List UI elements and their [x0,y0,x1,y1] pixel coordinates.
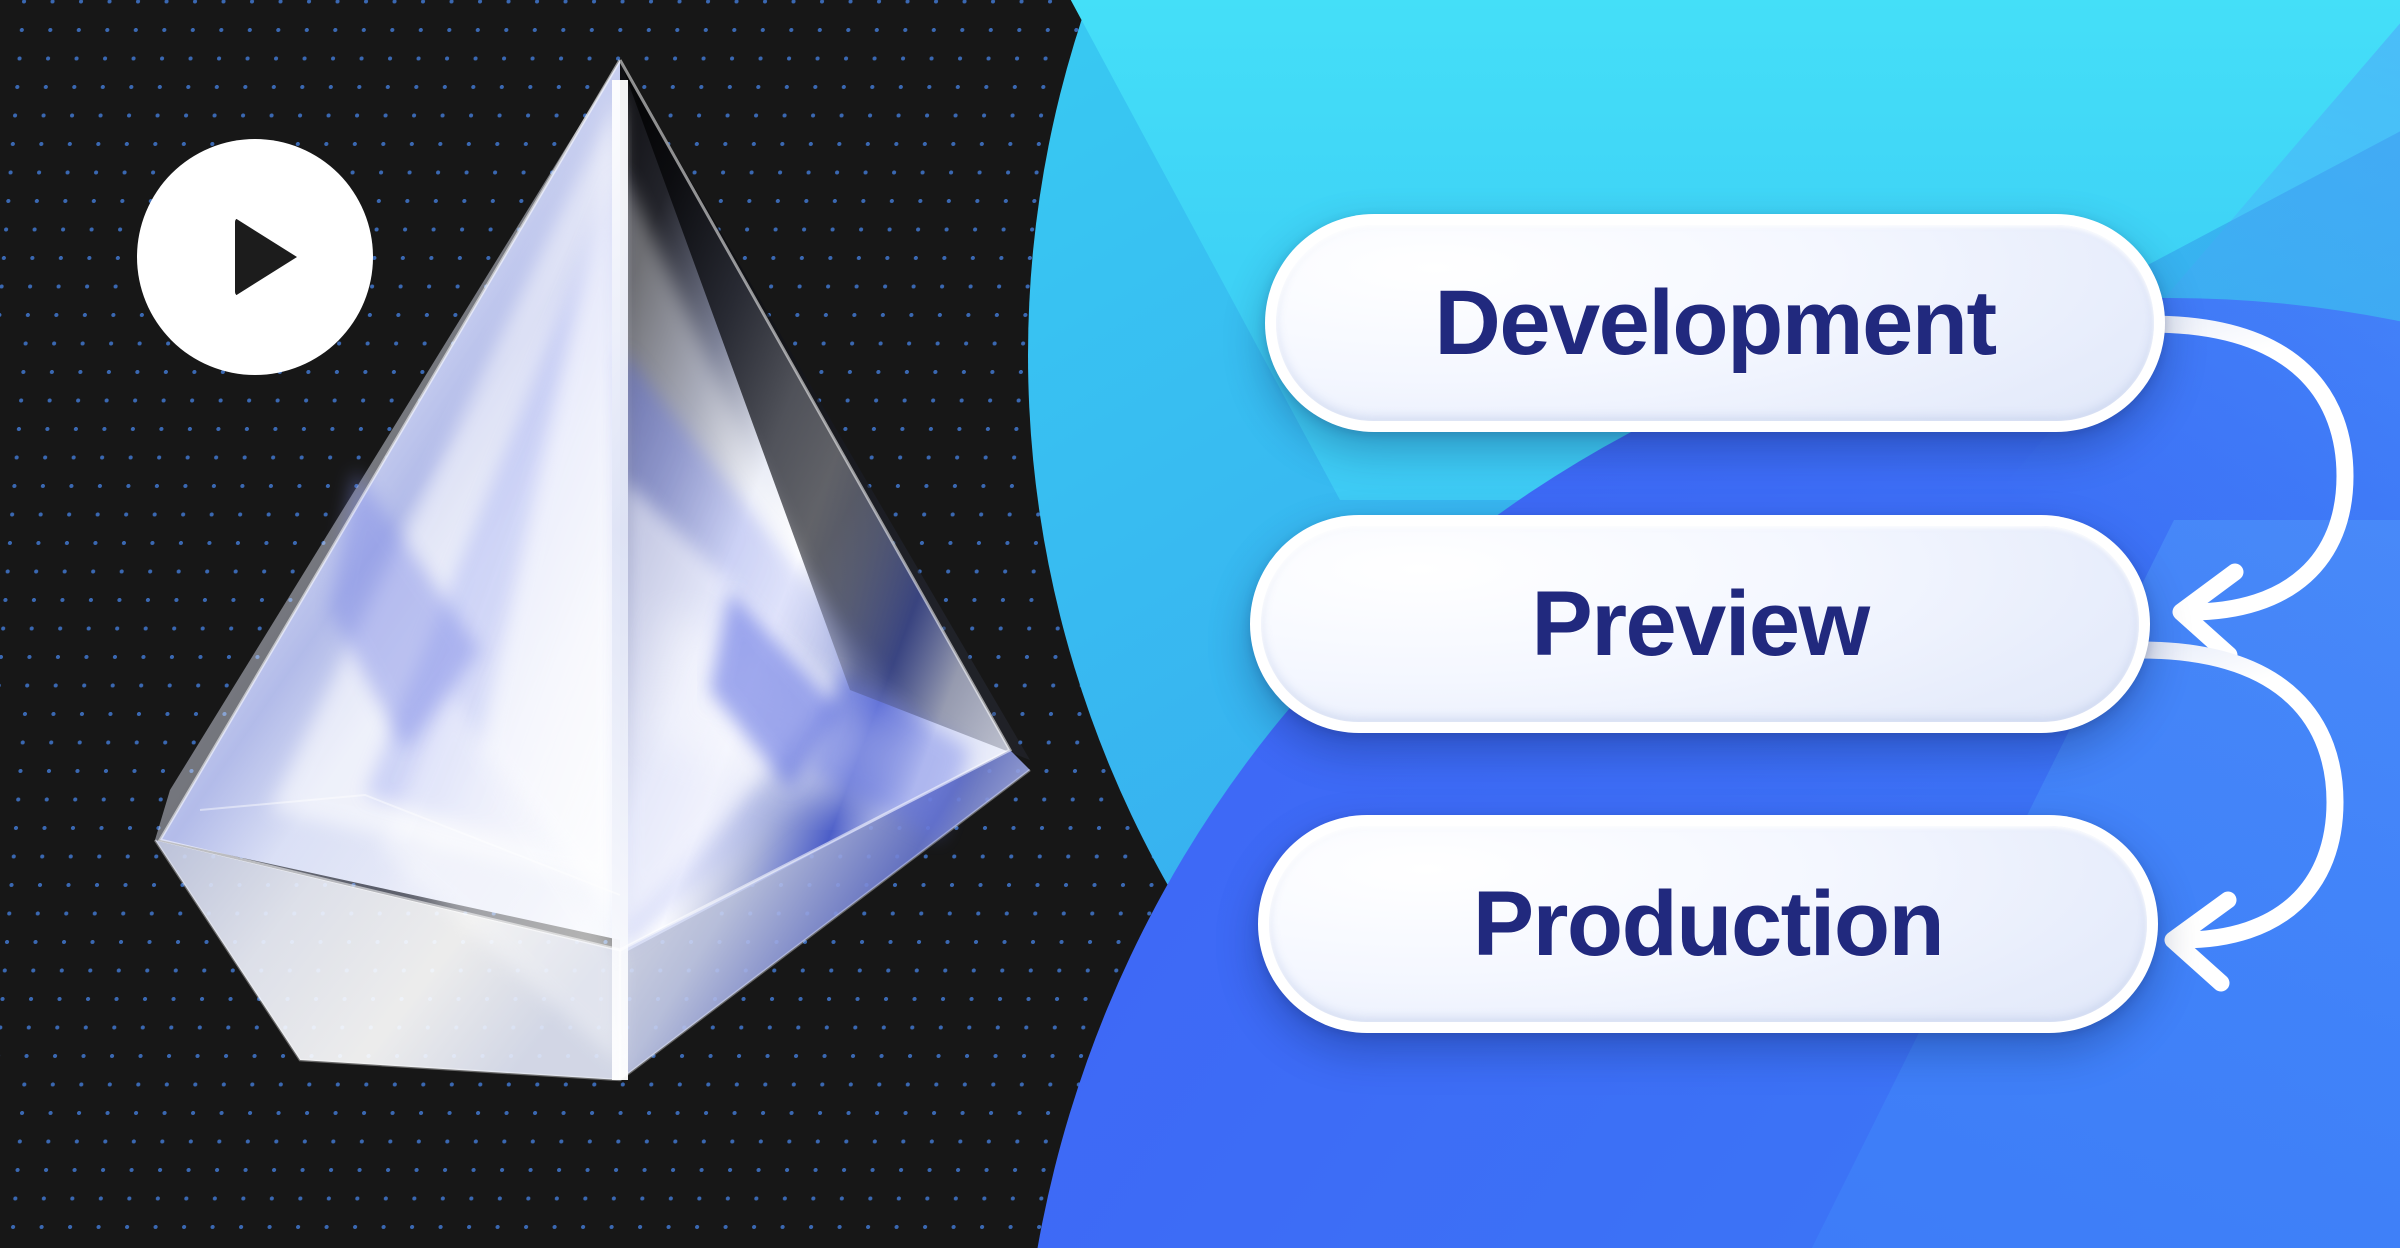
hero-banner: Development Preview Production [0,0,2400,1248]
flow-step-label-preview: Preview [1531,578,1868,670]
flow-step-production[interactable]: Production [1258,815,2158,1033]
flow-step-preview[interactable]: Preview [1250,515,2150,733]
flow-step-development[interactable]: Development [1265,214,2165,432]
flow-step-label-production: Production [1473,878,1944,970]
play-button[interactable] [137,139,373,375]
flow-step-label-development: Development [1434,277,1995,369]
play-icon [235,218,297,296]
